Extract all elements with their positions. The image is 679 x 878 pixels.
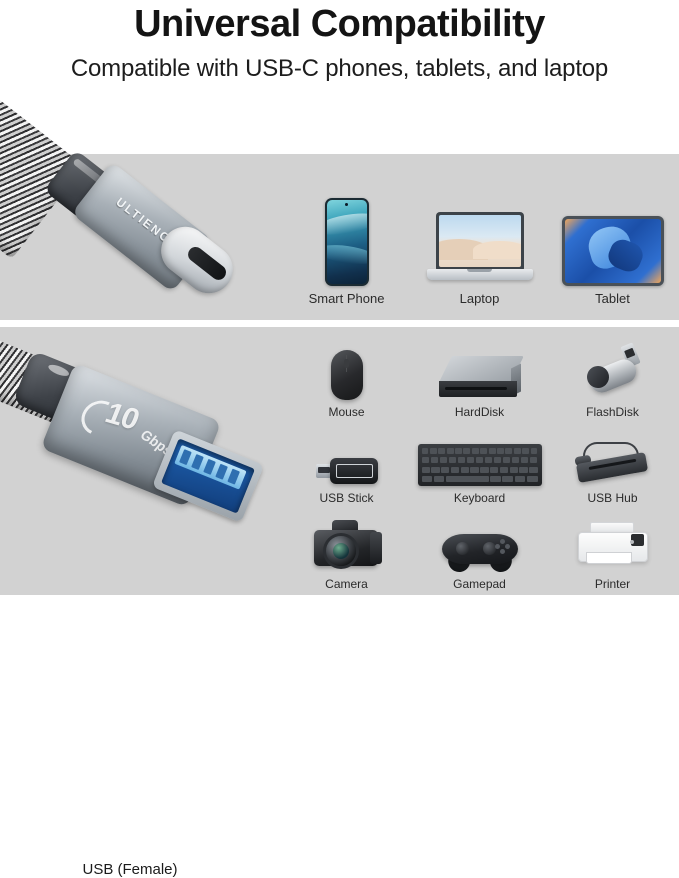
hard-disk-icon <box>439 356 521 400</box>
camera-icon <box>310 518 384 572</box>
usb-c-male-connector-image: ULTIENCE USB-C (Male) <box>0 154 280 320</box>
usb-a-compatibility-panel: 10 Gbps USB (Female) Mouse HardDisk <box>0 327 679 595</box>
page-subtitle: Compatible with USB-C phones, tablets, a… <box>0 52 679 86</box>
device-label: Mouse <box>328 405 364 419</box>
mouse-icon <box>331 350 363 400</box>
device-item-printer: Printer <box>546 507 679 593</box>
usb-hub-icon <box>573 438 653 486</box>
device-label: USB Stick <box>319 491 373 505</box>
device-label: Printer <box>595 577 630 591</box>
printer-icon <box>578 522 648 572</box>
device-item-hard-disk: HardDisk <box>413 335 546 421</box>
device-item-mouse: Mouse <box>280 335 413 421</box>
usb-female-connector-image: 10 Gbps USB (Female) <box>0 327 280 595</box>
usb-port-tongue <box>174 445 246 490</box>
usb-c-compatibility-panel: ULTIENCE USB-C (Male) Smart Phone Laptop <box>0 154 679 320</box>
usb-a-port-opening <box>152 429 264 522</box>
device-item-camera: Camera <box>280 507 413 593</box>
top-device-grid: Smart Phone Laptop Tablet <box>280 168 679 308</box>
device-label: USB Hub <box>587 491 637 505</box>
device-label: FlashDisk <box>586 405 639 419</box>
device-item-flash-disk: FlashDisk <box>546 335 679 421</box>
tablet-icon <box>562 216 664 286</box>
device-label: Laptop <box>460 291 500 306</box>
device-label: Keyboard <box>454 491 505 505</box>
device-label: Smart Phone <box>309 291 385 306</box>
device-item-gamepad: Gamepad <box>413 507 546 593</box>
page-header: Universal Compatibility Compatible with … <box>0 0 679 154</box>
device-label: Tablet <box>595 291 630 306</box>
gamepad-icon <box>442 528 518 572</box>
device-label: HardDisk <box>455 405 504 419</box>
usb-female-label: USB (Female) <box>0 861 260 878</box>
device-label: Gamepad <box>453 577 506 591</box>
laptop-icon <box>427 212 533 286</box>
device-item-usb-hub: USB Hub <box>546 421 679 507</box>
device-label: Camera <box>325 577 368 591</box>
usb-stick-icon <box>316 456 378 486</box>
keyboard-icon <box>418 444 542 486</box>
device-item-usb-stick: USB Stick <box>280 421 413 507</box>
phone-camera-dot <box>345 203 348 206</box>
device-item-smart-phone: Smart Phone <box>280 168 413 308</box>
bottom-device-grid: Mouse HardDisk FlashDisk USB Stick <box>280 335 679 593</box>
device-item-tablet: Tablet <box>546 168 679 308</box>
page-title: Universal Compatibility <box>0 0 679 48</box>
smart-phone-icon <box>325 198 369 286</box>
flash-disk-icon <box>585 344 641 400</box>
device-item-keyboard: Keyboard <box>413 421 546 507</box>
device-item-laptop: Laptop <box>413 168 546 308</box>
